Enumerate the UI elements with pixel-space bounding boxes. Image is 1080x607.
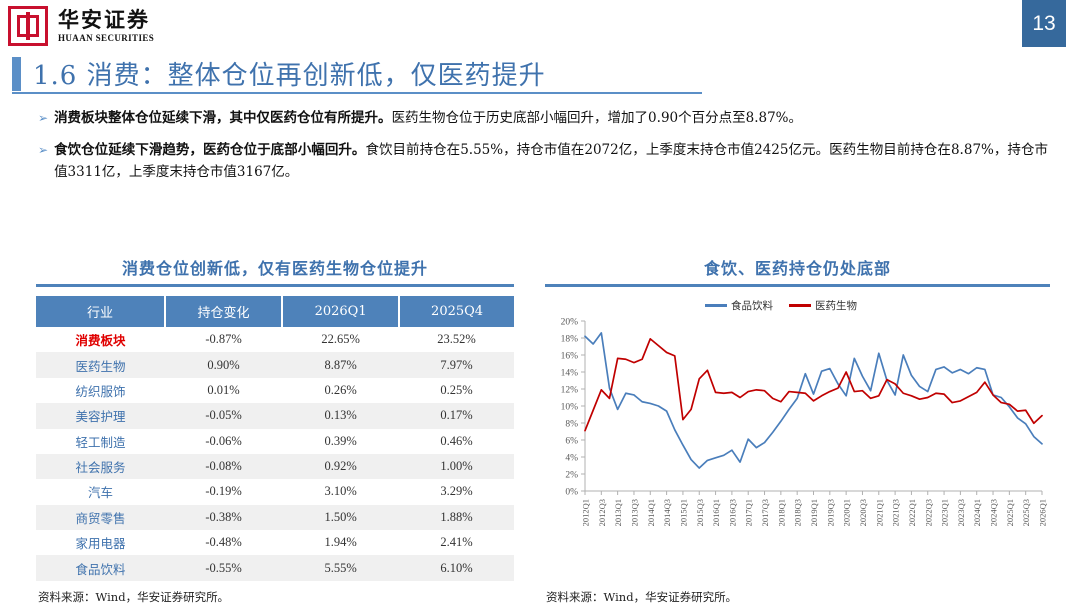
bullet-list: ➢ 消费板块整体仓位延续下滑，其中仅医药仓位有所提升。医药生物仓位于历史底部小幅… (38, 108, 1048, 194)
x-tick-label: 2017Q3 (760, 499, 770, 526)
table-cell-1: -0.05% (165, 403, 282, 428)
table-row: 医药生物0.90%8.87%7.97% (36, 352, 514, 377)
right-panel-title: 食饮、医药持仓仍处底部 (545, 255, 1050, 279)
table-cell-3: 2.41% (399, 530, 514, 555)
title-underline (12, 92, 702, 94)
huaan-logo-icon (8, 6, 48, 46)
y-tick-label: 8% (565, 420, 578, 430)
table-row: 消费板块-0.87%22.65%23.52% (36, 327, 514, 352)
table-cell-3: 7.97% (399, 352, 514, 377)
x-tick-label: 2023Q1 (940, 499, 950, 526)
bullet-text: 食饮仓位延续下滑趋势，医药仓位于底部小幅回升。食饮目前持仓在5.55%，持仓市值… (54, 140, 1048, 184)
table-cell-1: 0.90% (165, 352, 282, 377)
list-item: ➢ 消费板块整体仓位延续下滑，其中仅医药仓位有所提升。医药生物仓位于历史底部小幅… (38, 108, 1048, 130)
list-item: ➢ 食饮仓位延续下滑趋势，医药仓位于底部小幅回升。食饮目前持仓在5.55%，持仓… (38, 140, 1048, 184)
y-tick-label: 4% (565, 454, 578, 464)
table-cell-0: 消费板块 (36, 327, 165, 352)
y-tick-label: 12% (561, 386, 579, 396)
right-panel-rule (545, 284, 1050, 287)
x-tick-label: 2022Q3 (923, 499, 933, 526)
table-row: 轻工制造-0.06%0.39%0.46% (36, 429, 514, 454)
company-logo: 华安证券 HUAAN SECURITIES (8, 6, 154, 46)
table-cell-2: 5.55% (282, 555, 399, 580)
page-title: 1.6 消费：整体仓位再创新低，仅医药提升 (33, 55, 546, 92)
x-tick-label: 2021Q3 (891, 499, 901, 526)
x-tick-label: 2023Q3 (956, 499, 966, 526)
table-cell-0: 美容护理 (36, 403, 165, 428)
table-row: 食品饮料-0.55%5.55%6.10% (36, 555, 514, 580)
table-cell-0: 商贸零售 (36, 505, 165, 530)
chart-legend: 食品饮料医药生物 (705, 298, 857, 313)
table-col-header-2: 2026Q1 (282, 296, 399, 327)
x-tick-label: 2017Q1 (744, 499, 754, 526)
logo-name-cn: 华安证券 (58, 9, 154, 30)
table-cell-0: 医药生物 (36, 352, 165, 377)
y-tick-label: 18% (561, 335, 579, 345)
bullet-arrow-icon: ➢ (38, 108, 48, 130)
table-cell-1: -0.19% (165, 479, 282, 504)
x-tick-label: 2016Q1 (711, 499, 721, 526)
table-col-header-3: 2025Q4 (399, 296, 514, 327)
table-cell-2: 3.10% (282, 479, 399, 504)
legend-item-0: 食品饮料 (705, 298, 773, 313)
table-header-row: 行业持仓变化2026Q12025Q4 (36, 296, 514, 327)
right-source-note: 资料来源：Wind，华安证券研究所。 (546, 589, 737, 605)
chart-area: 食品饮料医药生物 0%2%4%6%8%10%12%14%16%18%20%201… (545, 295, 1050, 563)
bullet-arrow-icon: ➢ (38, 140, 48, 184)
table-cell-3: 0.46% (399, 429, 514, 454)
table-cell-0: 社会服务 (36, 454, 165, 479)
table-cell-1: -0.08% (165, 454, 282, 479)
table-cell-1: 0.01% (165, 378, 282, 403)
table-cell-2: 0.26% (282, 378, 399, 403)
left-panel-title: 消费仓位创新低，仅有医药生物仓位提升 (36, 255, 514, 279)
holdings-chart-panel: 食饮、医药持仓仍处底部 食品饮料医药生物 0%2%4%6%8%10%12%14%… (545, 255, 1050, 563)
x-tick-label: 2014Q1 (646, 499, 656, 526)
x-tick-label: 2026Q1 (1038, 499, 1048, 526)
table-body: 消费板块-0.87%22.65%23.52%医药生物0.90%8.87%7.97… (36, 327, 514, 581)
slide-title-row: 1.6 消费：整体仓位再创新低，仅医药提升 (12, 55, 546, 92)
y-tick-label: 16% (561, 352, 579, 362)
x-tick-label: 2021Q1 (874, 499, 884, 526)
x-tick-label: 2024Q1 (972, 499, 982, 526)
x-tick-label: 2013Q3 (629, 499, 639, 526)
table-cell-3: 3.29% (399, 479, 514, 504)
table-cell-1: -0.48% (165, 530, 282, 555)
x-tick-label: 2025Q3 (1021, 499, 1031, 526)
table-row: 商贸零售-0.38%1.50%1.88% (36, 505, 514, 530)
y-tick-label: 20% (561, 318, 579, 328)
table-cell-2: 1.50% (282, 505, 399, 530)
table-cell-1: -0.06% (165, 429, 282, 454)
table-cell-2: 0.92% (282, 454, 399, 479)
line-chart: 0%2%4%6%8%10%12%14%16%18%20%2012Q12012Q3… (545, 295, 1050, 563)
table-row: 美容护理-0.05%0.13%0.17% (36, 403, 514, 428)
x-tick-label: 2019Q1 (809, 499, 819, 526)
table-cell-2: 0.39% (282, 429, 399, 454)
page-number-badge: 13 (1022, 0, 1066, 47)
left-source-note: 资料来源：Wind，华安证券研究所。 (38, 589, 229, 605)
x-tick-label: 2013Q1 (613, 499, 623, 526)
bullet-bold-text: 食饮仓位延续下滑趋势，医药仓位于底部小幅回升。 (54, 142, 365, 158)
left-panel-rule (36, 284, 514, 287)
y-tick-label: 10% (561, 403, 579, 413)
x-tick-label: 2025Q1 (1005, 499, 1015, 526)
x-tick-label: 2018Q1 (776, 499, 786, 526)
table-cell-2: 22.65% (282, 327, 399, 352)
table-cell-3: 1.00% (399, 454, 514, 479)
table-cell-2: 0.13% (282, 403, 399, 428)
table-row: 家用电器-0.48%1.94%2.41% (36, 530, 514, 555)
table-cell-0: 家用电器 (36, 530, 165, 555)
legend-swatch-icon (789, 304, 811, 307)
legend-item-1: 医药生物 (789, 298, 857, 313)
table-cell-3: 0.17% (399, 403, 514, 428)
table-cell-3: 23.52% (399, 327, 514, 352)
y-tick-label: 0% (565, 488, 578, 498)
table-cell-2: 8.87% (282, 352, 399, 377)
x-tick-label: 2019Q3 (825, 499, 835, 526)
x-tick-label: 2012Q3 (597, 499, 607, 526)
series-line-1 (585, 339, 1042, 431)
table-cell-0: 纺织服饰 (36, 378, 165, 403)
legend-label: 医药生物 (815, 298, 857, 313)
x-tick-label: 2020Q1 (842, 499, 852, 526)
position-table-panel: 消费仓位创新低，仅有医药生物仓位提升 行业持仓变化2026Q12025Q4 消费… (36, 255, 514, 581)
x-tick-label: 2020Q3 (858, 499, 868, 526)
logo-name-en: HUAAN SECURITIES (58, 34, 154, 43)
title-accent-bar (12, 57, 21, 91)
table-cell-0: 轻工制造 (36, 429, 165, 454)
x-tick-label: 2012Q1 (581, 499, 591, 526)
position-table: 行业持仓变化2026Q12025Q4 消费板块-0.87%22.65%23.52… (36, 296, 514, 581)
y-tick-label: 2% (565, 471, 578, 481)
table-col-header-0: 行业 (36, 296, 165, 327)
table-cell-2: 1.94% (282, 530, 399, 555)
x-tick-label: 2016Q3 (727, 499, 737, 526)
table-cell-3: 6.10% (399, 555, 514, 580)
x-tick-label: 2024Q3 (989, 499, 999, 526)
table-cell-1: -0.87% (165, 327, 282, 352)
table-col-header-1: 持仓变化 (165, 296, 282, 327)
x-tick-label: 2015Q3 (695, 499, 705, 526)
bullet-bold-text: 消费板块整体仓位延续下滑，其中仅医药仓位有所提升。 (54, 110, 392, 126)
legend-label: 食品饮料 (731, 298, 773, 313)
table-cell-3: 1.88% (399, 505, 514, 530)
y-tick-label: 14% (561, 369, 579, 379)
bullet-text: 消费板块整体仓位延续下滑，其中仅医药仓位有所提升。医药生物仓位于历史底部小幅回升… (54, 108, 802, 130)
x-tick-label: 2014Q3 (662, 499, 672, 526)
legend-swatch-icon (705, 304, 727, 307)
table-row: 汽车-0.19%3.10%3.29% (36, 479, 514, 504)
table-row: 社会服务-0.08%0.92%1.00% (36, 454, 514, 479)
table-cell-0: 汽车 (36, 479, 165, 504)
table-cell-3: 0.25% (399, 378, 514, 403)
x-tick-label: 2018Q3 (793, 499, 803, 526)
bullet-rest-text: 医药生物仓位于历史底部小幅回升，增加了0.90个百分点至8.87%。 (392, 110, 802, 126)
x-tick-label: 2022Q1 (907, 499, 917, 526)
table-cell-1: -0.38% (165, 505, 282, 530)
logo-text: 华安证券 HUAAN SECURITIES (58, 9, 154, 43)
table-cell-1: -0.55% (165, 555, 282, 580)
y-tick-label: 6% (565, 437, 578, 447)
table-row: 纺织服饰0.01%0.26%0.25% (36, 378, 514, 403)
x-tick-label: 2015Q1 (678, 499, 688, 526)
table-cell-0: 食品饮料 (36, 555, 165, 580)
